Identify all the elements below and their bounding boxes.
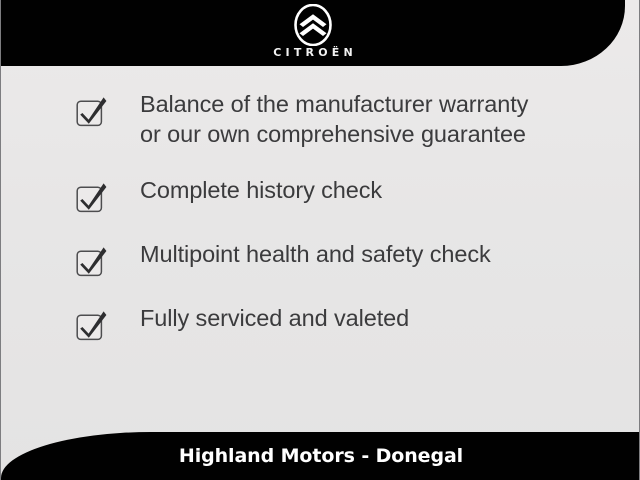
checked-checkbox-icon xyxy=(75,94,109,128)
feature-list: Balance of the manufacturer warranty or … xyxy=(1,66,640,426)
checked-checkbox-icon xyxy=(75,180,109,214)
checked-checkbox-icon xyxy=(75,244,109,278)
list-item-label: Balance of the manufacturer warranty or … xyxy=(140,89,528,149)
list-item: Balance of the manufacturer warranty or … xyxy=(1,89,640,175)
citroen-chevrons-logo-icon xyxy=(287,4,339,46)
dealer-promo-banner: CITROËN Balance of the manufacturer warr… xyxy=(0,0,640,480)
list-item-label: Fully serviced and valeted xyxy=(140,303,409,333)
list-item-label: Multipoint health and safety check xyxy=(140,239,491,269)
list-item: Fully serviced and valeted xyxy=(1,303,640,367)
dealer-name: Highland Motors - Donegal xyxy=(1,432,640,480)
list-item: Complete history check xyxy=(1,175,640,239)
brand-block: CITROËN xyxy=(1,0,625,66)
list-item: Multipoint health and safety check xyxy=(1,239,640,303)
brand-wordmark: CITROËN xyxy=(269,47,357,59)
checked-checkbox-icon xyxy=(75,308,109,342)
list-item-label: Complete history check xyxy=(140,175,382,205)
